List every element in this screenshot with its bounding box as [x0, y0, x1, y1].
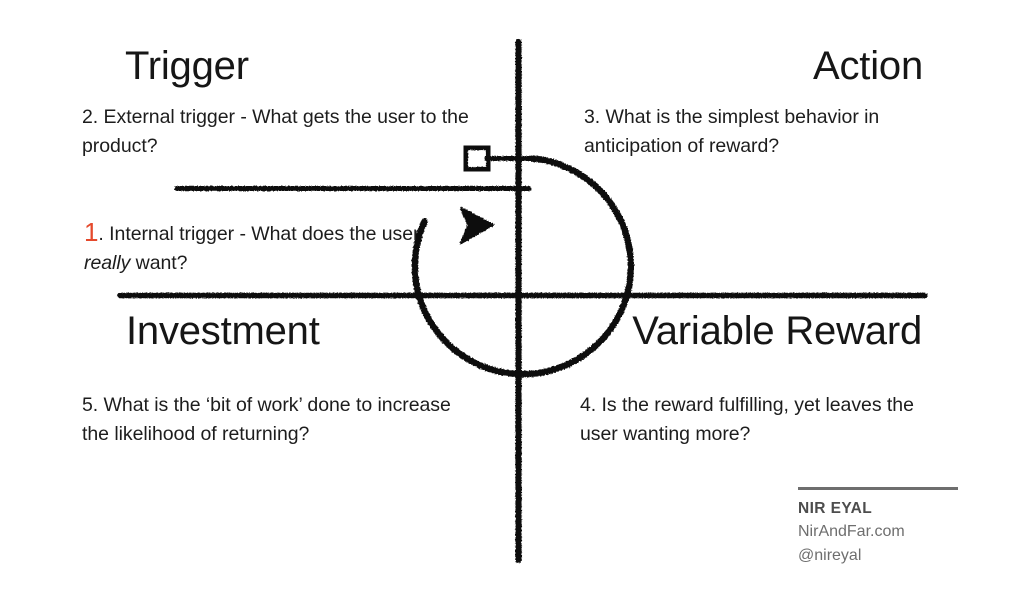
- action-item-number: 3.: [584, 106, 600, 128]
- diagram-text-layer: Trigger 2. External trigger - What gets …: [0, 0, 1018, 598]
- trigger-item-text: External trigger - What gets the user to…: [82, 106, 469, 157]
- hook-model-canvas: Trigger 2. External trigger - What gets …: [0, 0, 1018, 598]
- quadrant-body-investment: 5. What is the ‘bit of work’ done to inc…: [82, 391, 452, 449]
- quadrant-body-action: 3. What is the simplest behavior in anti…: [584, 103, 944, 161]
- attribution-handle[interactable]: @nireyal: [798, 544, 958, 568]
- reward-item-number: 4.: [580, 394, 596, 416]
- internal-trigger-text-before: . Internal trigger - What does the user: [98, 223, 419, 245]
- quadrant-title-action: Action: [813, 46, 923, 86]
- investment-item-number: 5.: [82, 394, 98, 416]
- quadrant-body-variable-reward: 4. Is the reward fulfilling, yet leaves …: [580, 391, 940, 449]
- trigger-item-number: 2.: [82, 106, 98, 128]
- quadrant-title-investment: Investment: [126, 311, 320, 351]
- quadrant-title-trigger: Trigger: [125, 46, 249, 86]
- quadrant-body-trigger: 2. External trigger - What gets the user…: [82, 103, 482, 161]
- attribution-block: NIR EYAL NirAndFar.com @nireyal: [798, 487, 958, 568]
- internal-trigger-number: 1: [84, 217, 98, 247]
- quadrant-body-internal-trigger: 1. Internal trigger - What does the user…: [84, 220, 444, 278]
- internal-trigger-text-after: want?: [130, 252, 187, 274]
- attribution-website[interactable]: NirAndFar.com: [798, 520, 958, 544]
- reward-item-text: Is the reward fulfilling, yet leaves the…: [580, 394, 914, 445]
- quadrant-title-variable-reward: Variable Reward: [632, 311, 922, 351]
- attribution-author: NIR EYAL: [798, 498, 958, 520]
- action-item-text: What is the simplest behavior in anticip…: [584, 106, 879, 157]
- attribution-divider: [798, 487, 958, 490]
- investment-item-text: What is the ‘bit of work’ done to increa…: [82, 394, 451, 445]
- internal-trigger-emphasis: really: [84, 252, 130, 274]
